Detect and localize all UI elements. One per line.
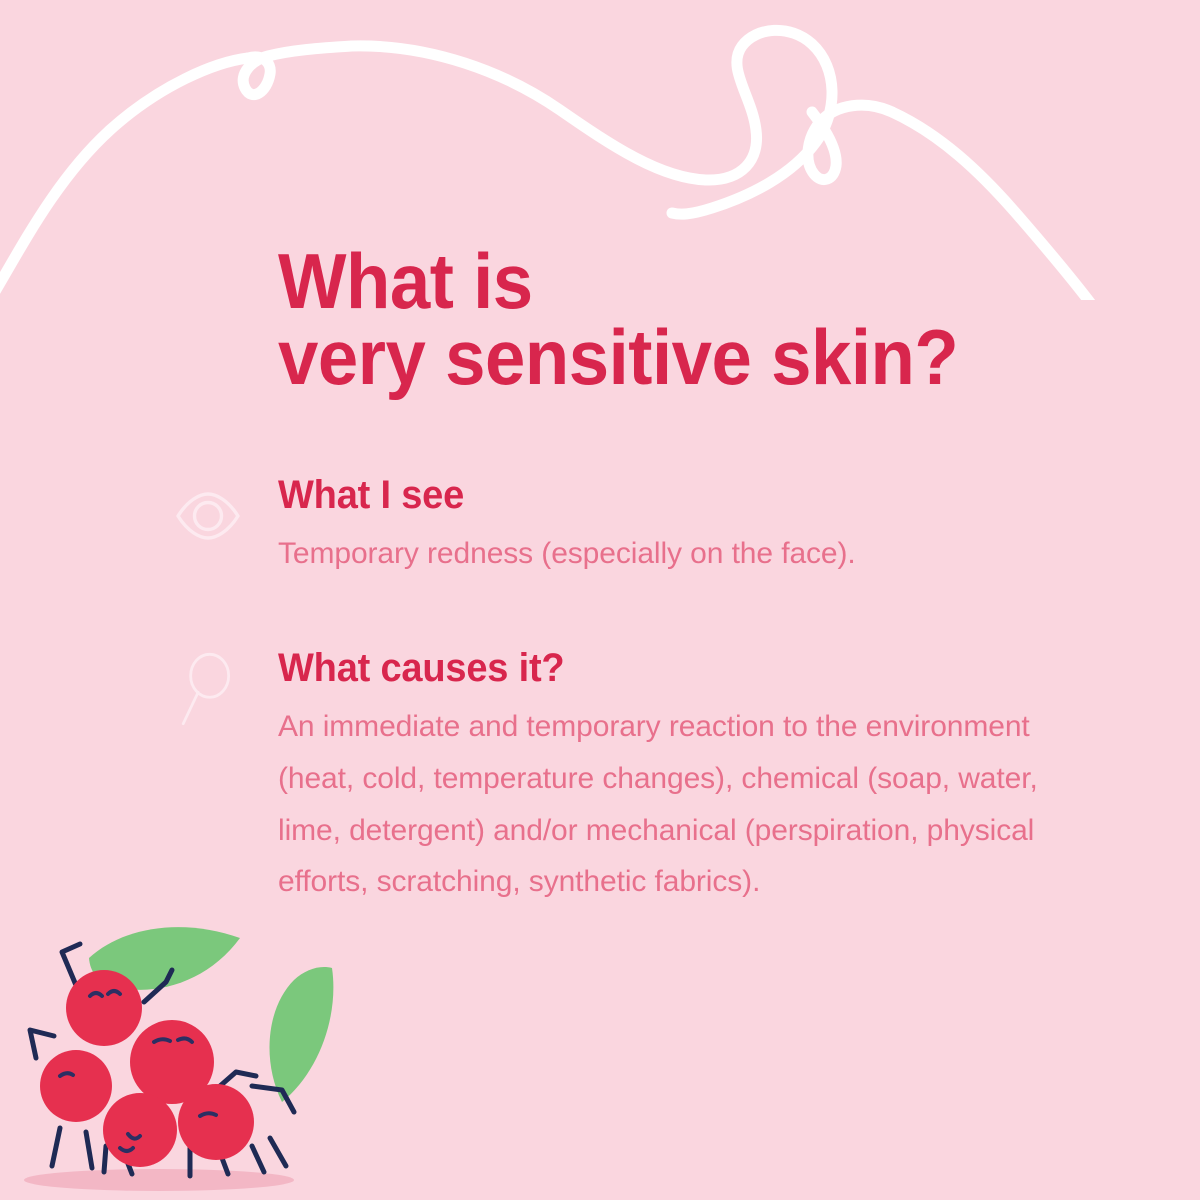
section-heading: What causes it? [278,647,1030,689]
leaf-right [270,967,334,1102]
section-body: What I see Temporary redness (especially… [278,474,1070,580]
section-body: What causes it? An immediate and tempora… [278,647,1070,907]
section-heading: What I see [278,474,1030,516]
radish-mascot-illustration [0,890,334,1200]
section-what-i-see: What I see Temporary redness (especially… [170,474,1070,580]
poster-canvas: What is very sensitive skin? What I see … [0,0,1200,1200]
magnifier-icon [170,651,246,727]
section-text: An immediate and temporary reaction to t… [278,701,1068,907]
section-what-causes-it: What causes it? An immediate and tempora… [170,647,1070,907]
radish-body [103,1093,177,1167]
content-block: What is very sensitive skin? What I see … [170,243,1070,908]
radish-body [178,1084,254,1160]
page-title: What is very sensitive skin? [278,243,1015,396]
section-text: Temporary redness (especially on the fac… [278,528,1068,580]
eye-icon [170,478,246,554]
radish-body [66,970,142,1046]
radish-body [40,1050,112,1122]
mascot-shadow [24,1169,294,1191]
